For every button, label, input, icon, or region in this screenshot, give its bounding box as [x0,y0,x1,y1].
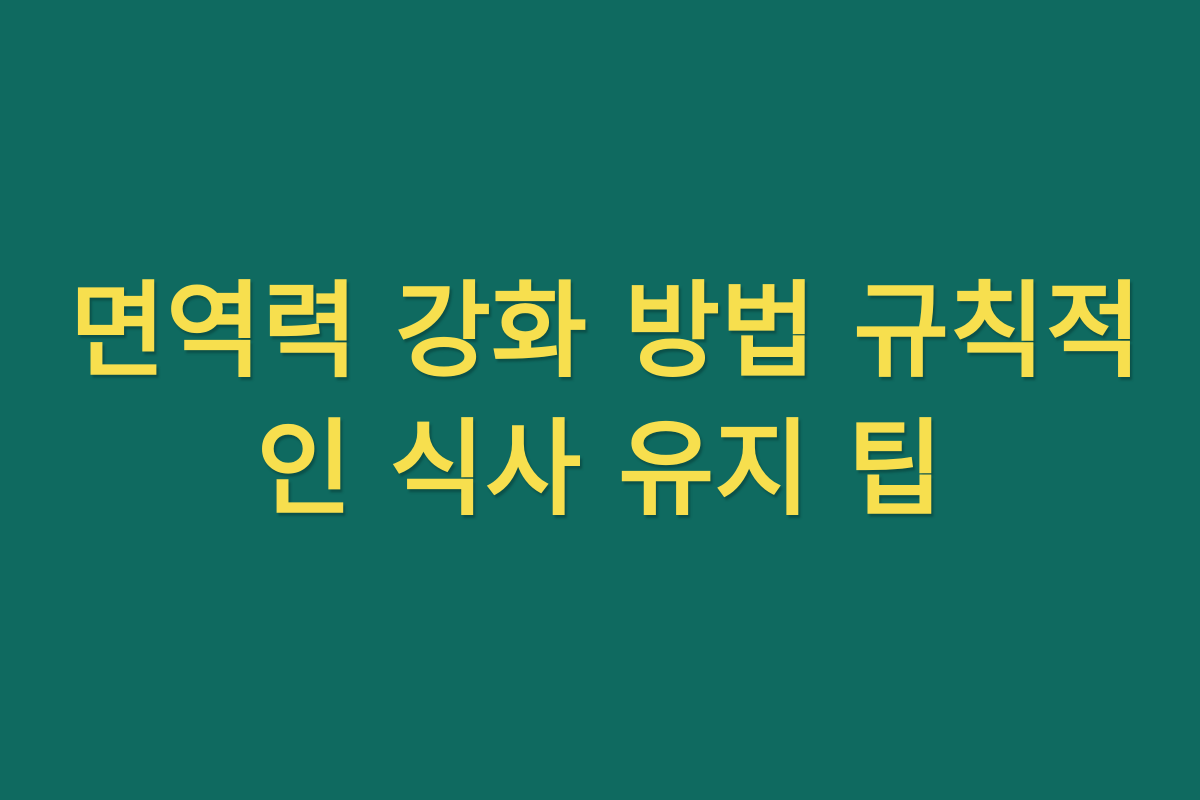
title-text-block: 면역력 강화 방법 규칙적 인 식사 유지 팁 [70,262,1130,538]
title-card: 면역력 강화 방법 규칙적 인 식사 유지 팁 [0,0,1200,800]
title-line-2: 인 식사 유지 팁 [70,400,1130,538]
title-line-1: 면역력 강화 방법 규칙적 [70,262,1130,400]
